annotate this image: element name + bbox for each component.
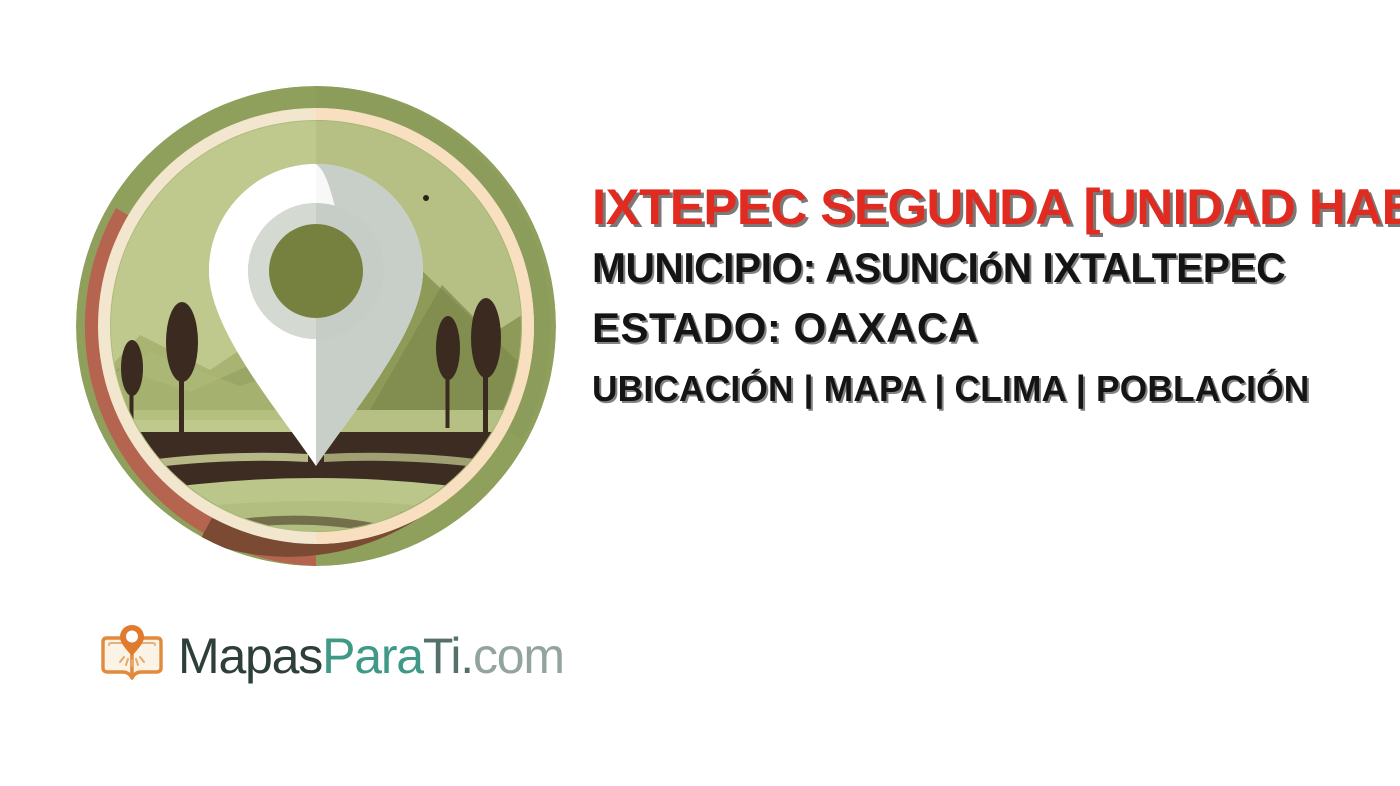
speck-artifact [423, 195, 429, 201]
estado-line: ESTADO: OAXACA [592, 302, 1400, 354]
page-title: IXTEPEC SEGUNDA [UNIDAD HAB [592, 178, 1400, 236]
listing-text-block: IXTEPEC SEGUNDA [UNIDAD HAB MUNICIPIO: A… [592, 178, 1400, 412]
brand-name-part-com: com [473, 628, 564, 684]
municipio-line: MUNICIPIO: ASUNCIóN IXTALTEPEC [592, 242, 1400, 294]
page-root: IXTEPEC SEGUNDA [UNIDAD HAB MUNICIPIO: A… [0, 0, 1400, 786]
brand-name-part-para: Para [322, 628, 423, 684]
brand-name-part-mapas: Mapas [178, 628, 322, 684]
servicios-line: UBICACIÓN | MAPA | CLIMA | POBLACIÓN [592, 366, 1400, 412]
brand-wordmark[interactable]: MapasParaTi.com [98, 618, 564, 694]
map-pin-landscape-badge-icon [70, 80, 562, 572]
brand-name-part-ti: Ti. [423, 628, 473, 684]
open-book-with-map-pin-icon [98, 622, 166, 690]
brand-name: MapasParaTi.com [178, 628, 564, 684]
